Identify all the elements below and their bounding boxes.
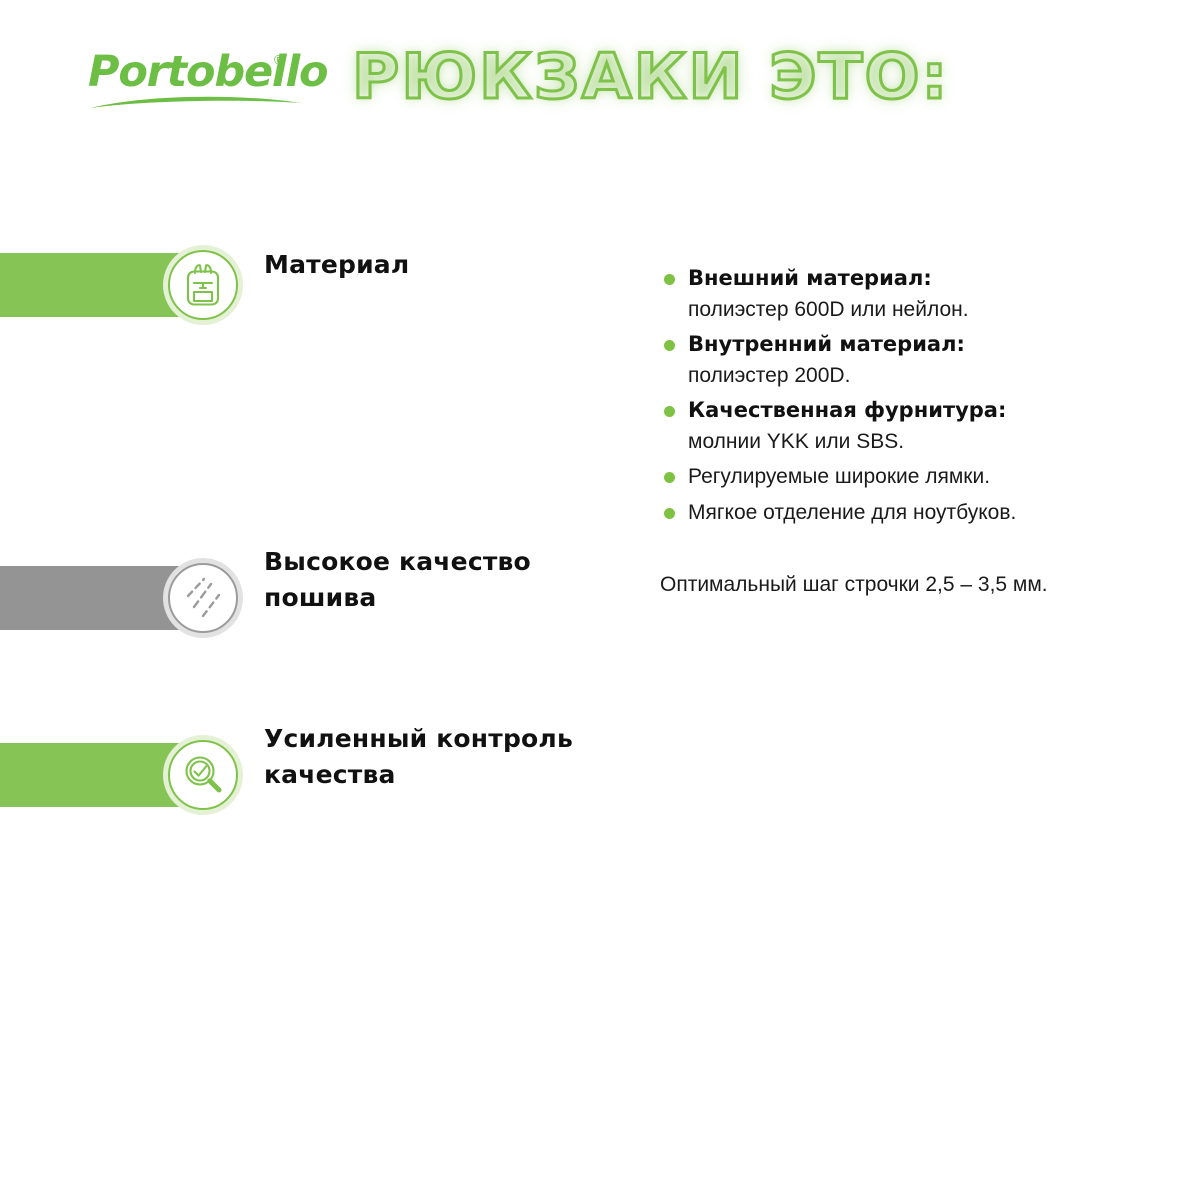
backpack-icon — [168, 250, 238, 320]
bullet-dot-icon — [664, 472, 675, 483]
bullet-strong: Качественная фурнитура: — [688, 395, 1180, 426]
section-accent-bar — [0, 253, 185, 317]
page-header: Portobello ® РЮКЗАКИ ЭТО: — [0, 0, 1200, 150]
section-title: Усиленный контроль качества — [264, 721, 604, 793]
brand-logo-text: Portobello — [88, 48, 327, 96]
registered-trademark-icon: ® — [274, 52, 284, 67]
list-item: Мягкое отделение для ноутбуков. — [660, 497, 1180, 529]
list-item: Регулируемые широкие лямки. — [660, 461, 1180, 493]
stitching-note: Оптимальный шаг строчки 2,5 – 3,5 мм. — [660, 570, 1180, 600]
bullet-dot-icon — [664, 340, 675, 351]
bullet-plain: молнии YKK или SBS. — [688, 426, 1180, 457]
list-item: Внутренний материал: полиэстер 200D. — [660, 329, 1180, 391]
section-title: Материал — [264, 247, 604, 283]
magnifier-check-icon — [168, 740, 238, 810]
stitching-details: Оптимальный шаг строчки 2,5 – 3,5 мм. — [660, 570, 1180, 600]
list-item: Внешний материал: полиэстер 600D или ней… — [660, 263, 1180, 325]
material-bullet-list: Внешний материал: полиэстер 600D или ней… — [660, 263, 1180, 529]
bullet-plain: Мягкое отделение для ноутбуков. — [688, 497, 1180, 529]
bullet-strong: Внутренний материал: — [688, 329, 1180, 360]
brand-swoosh-icon — [88, 92, 303, 110]
bullet-dot-icon — [664, 274, 675, 285]
bullet-plain: полиэстер 600D или нейлон. — [688, 294, 1180, 325]
material-details: Внешний материал: полиэстер 600D или ней… — [660, 263, 1180, 533]
bullet-plain: полиэстер 200D. — [688, 360, 1180, 391]
stitching-icon — [168, 563, 238, 633]
page-title: РЮКЗАКИ ЭТО: — [352, 44, 949, 110]
section-accent-bar — [0, 566, 185, 630]
section-title: Высокое качество пошива — [264, 544, 604, 616]
bullet-dot-icon — [664, 406, 675, 417]
bullet-plain: Регулируемые широкие лямки. — [688, 461, 1180, 493]
brand-logo[interactable]: Portobello ® — [88, 48, 303, 110]
bullet-strong: Внешний материал: — [688, 263, 1180, 294]
bullet-dot-icon — [664, 508, 675, 519]
section-accent-bar — [0, 743, 185, 807]
list-item: Качественная фурнитура: молнии YKK или S… — [660, 395, 1180, 457]
